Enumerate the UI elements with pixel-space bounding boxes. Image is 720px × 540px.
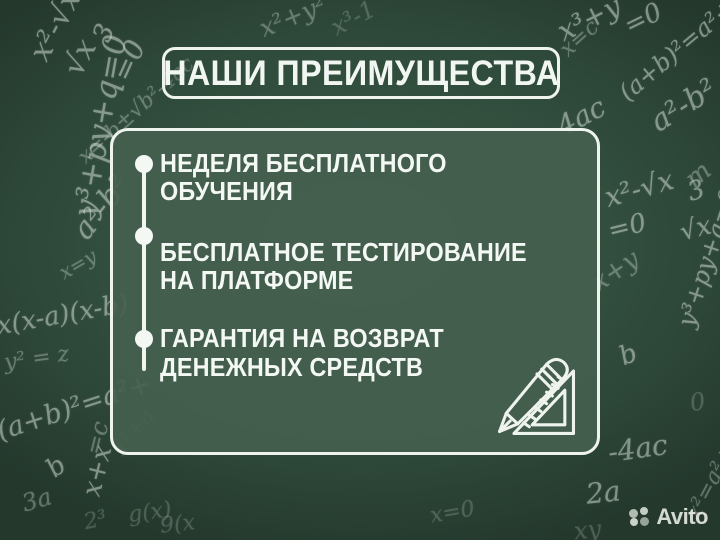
chalk-formula: x=y (55, 244, 101, 284)
chalk-formula: b (615, 338, 642, 372)
chalk-formula: g(x) (126, 497, 173, 528)
chalk-formula: 2³ (82, 506, 110, 535)
chalk-formula: 3a (19, 482, 55, 517)
avito-brand-label: Avito (656, 506, 708, 528)
chalk-formula: m (679, 156, 717, 195)
chalk-formula: 9(x (159, 510, 196, 539)
chalk-formula: x²-√x (22, 0, 88, 67)
chalk-formula: xy (573, 515, 603, 540)
chalk-formula: y² = z (3, 342, 71, 376)
chalk-formula: x³+y (552, 0, 626, 48)
chalk-formula: x=c (555, 15, 604, 62)
avito-watermark: Avito (629, 506, 708, 528)
list-item: НЕДЕЛЯ БЕСПЛАТНОГО ОБУЧЕНИЯ (160, 149, 546, 206)
chalk-formula: x²-√x (601, 163, 677, 214)
chalk-formula: 3 (87, 20, 121, 47)
chalk-formula: x²+y² (255, 0, 330, 43)
chalk-formula: √x (56, 33, 104, 81)
avito-logo-icon (629, 507, 651, 527)
chalk-formula: √x (677, 211, 715, 248)
chalk-formula: a²-b² (644, 72, 720, 139)
advantages-panel: НЕДЕЛЯ БЕСПЛАТНОГО ОБУЧЕНИЯ БЕСПЛАТНОЕ Т… (110, 128, 600, 455)
chalk-formula: (a+b)²=a²+ (614, 0, 720, 106)
chalk-formula: =0 (619, 0, 667, 41)
chalk-formula: 0 (688, 387, 708, 417)
page-title: НАШИ ПРЕИМУЩЕСТВА (163, 56, 559, 91)
chalk-formula: 3 (684, 174, 708, 207)
timeline-dot-2 (135, 227, 153, 245)
chalk-formula: -4ac (606, 428, 670, 469)
chalk-formula: 2a (584, 474, 622, 510)
poster-title-plate: НАШИ ПРЕИМУЩЕСТВА (162, 47, 560, 99)
chalk-formula: x³-1 (326, 0, 380, 41)
chalk-formula: =0 (605, 208, 649, 246)
timeline-connector (134, 155, 154, 380)
timeline-dot-1 (135, 155, 153, 173)
chalk-formula: y³+py+q=0 (672, 186, 720, 331)
list-item: БЕСПЛАТНОЕ ТЕСТИРОВАНИЕ НА ПЛАТФОРМЕ (160, 238, 546, 295)
chalk-formula: =0 (105, 35, 152, 86)
pencil-ruler-icon (489, 348, 585, 444)
timeline-dot-3 (135, 330, 153, 348)
advantages-list: НЕДЕЛЯ БЕСПЛАТНОГО ОБУЧЕНИЯ БЕСПЛАТНОЕ Т… (160, 143, 589, 381)
chalk-formula: x=0 (428, 496, 477, 528)
chalk-formula: x+x (77, 443, 118, 500)
chalkboard-poster: x²-√x3√x=0y³+py+q=0x=-b±√b²-4aca²-b²x=yx… (0, 0, 720, 540)
chalk-formula: b (41, 450, 73, 484)
